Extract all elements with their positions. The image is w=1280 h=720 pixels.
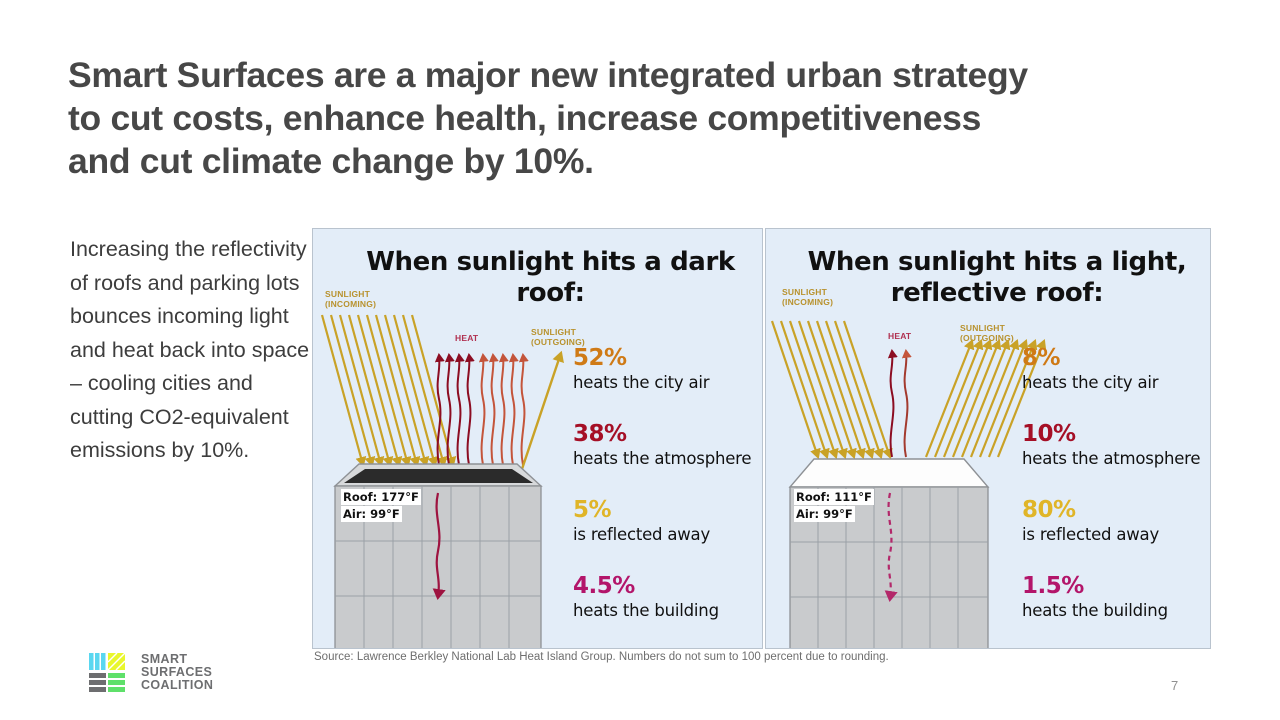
stat-description: heats the city air (1022, 372, 1211, 393)
air-temp-dark: Air: 99°F (341, 506, 402, 522)
air-temp-light: Air: 99°F (794, 506, 855, 522)
smart-surfaces-coalition-logo: SMART SURFACES COALITION (89, 652, 239, 694)
page-title: Smart Surfaces are a major new integrate… (68, 54, 1218, 183)
logo-mark-icon (89, 652, 135, 692)
stat-value: 1.5% (1022, 573, 1211, 600)
roof-temp-light: Roof: 111°F (794, 489, 874, 505)
table-row: 5% is reflected away (573, 497, 758, 545)
stat-value: 5% (573, 497, 758, 524)
title-line-3: and cut climate change by 10%. (68, 140, 1218, 183)
stat-value: 10% (1022, 421, 1211, 448)
stat-value: 4.5% (573, 573, 758, 600)
outgoing-ray (521, 353, 561, 472)
stats-dark-roof: 52% heats the city air 38% heats the atm… (573, 345, 758, 635)
stat-value: 8% (1022, 345, 1211, 372)
table-row: 38% heats the atmosphere (573, 421, 758, 469)
stat-description: heats the atmosphere (573, 448, 758, 469)
stat-description: heats the atmosphere (1022, 448, 1211, 469)
lead-paragraph: Increasing the reflectivity of roofs and… (70, 233, 315, 468)
logo-line-2: SURFACES (141, 666, 213, 679)
stat-row: 52% heats the city air (573, 345, 758, 393)
table-row: 4.5% heats the building (573, 573, 758, 621)
temp-readout-light: Roof: 111°F Air: 99°F (794, 489, 874, 523)
infographic: When sunlight hits a dark roof: SUNLIGHT… (312, 228, 1211, 649)
stats-light-roof: 8% heats the city air 10% heats the atmo… (1022, 345, 1211, 635)
slide: Smart Surfaces are a major new integrate… (0, 0, 1280, 720)
heat-lines-light (905, 351, 908, 457)
incoming-ray-bundle (772, 321, 890, 457)
table-row: 10% heats the atmosphere (1022, 421, 1211, 469)
panel-dark-roof: When sunlight hits a dark roof: SUNLIGHT… (312, 228, 763, 649)
stat-description: heats the building (1022, 600, 1211, 621)
page-number: 7 (1171, 678, 1178, 693)
stat-description: heats the city air (573, 372, 758, 393)
stat-value: 38% (573, 421, 758, 448)
source-note: Source: Lawrence Berkley National Lab He… (314, 651, 889, 663)
heat-lines-dark (891, 351, 894, 457)
logo-wordmark: SMART SURFACES COALITION (141, 653, 213, 691)
stat-value: 80% (1022, 497, 1211, 524)
incoming-ray-bundle (322, 315, 453, 465)
logo-line-3: COALITION (141, 679, 213, 692)
table-row: 1.5% heats the building (1022, 573, 1211, 621)
heat-lines-light (482, 355, 525, 465)
stat-description: is reflected away (573, 524, 758, 545)
stat-description: heats the building (573, 600, 758, 621)
heat-lines-dark (438, 355, 471, 465)
roof-temp-dark: Roof: 177°F (341, 489, 421, 505)
title-line-2: to cut costs, enhance health, increase c… (68, 97, 1218, 140)
panel-light-roof: When sunlight hits a light, reflective r… (765, 228, 1211, 649)
table-row: 8% heats the city air (1022, 345, 1211, 393)
building-light (790, 459, 988, 649)
table-row: 80% is reflected away (1022, 497, 1211, 545)
title-line-1: Smart Surfaces are a major new integrate… (68, 54, 1218, 97)
logo-line-1: SMART (141, 653, 213, 666)
stat-description: is reflected away (1022, 524, 1211, 545)
stat-value: 52% (573, 345, 758, 372)
temp-readout-dark: Roof: 177°F Air: 99°F (341, 489, 421, 523)
